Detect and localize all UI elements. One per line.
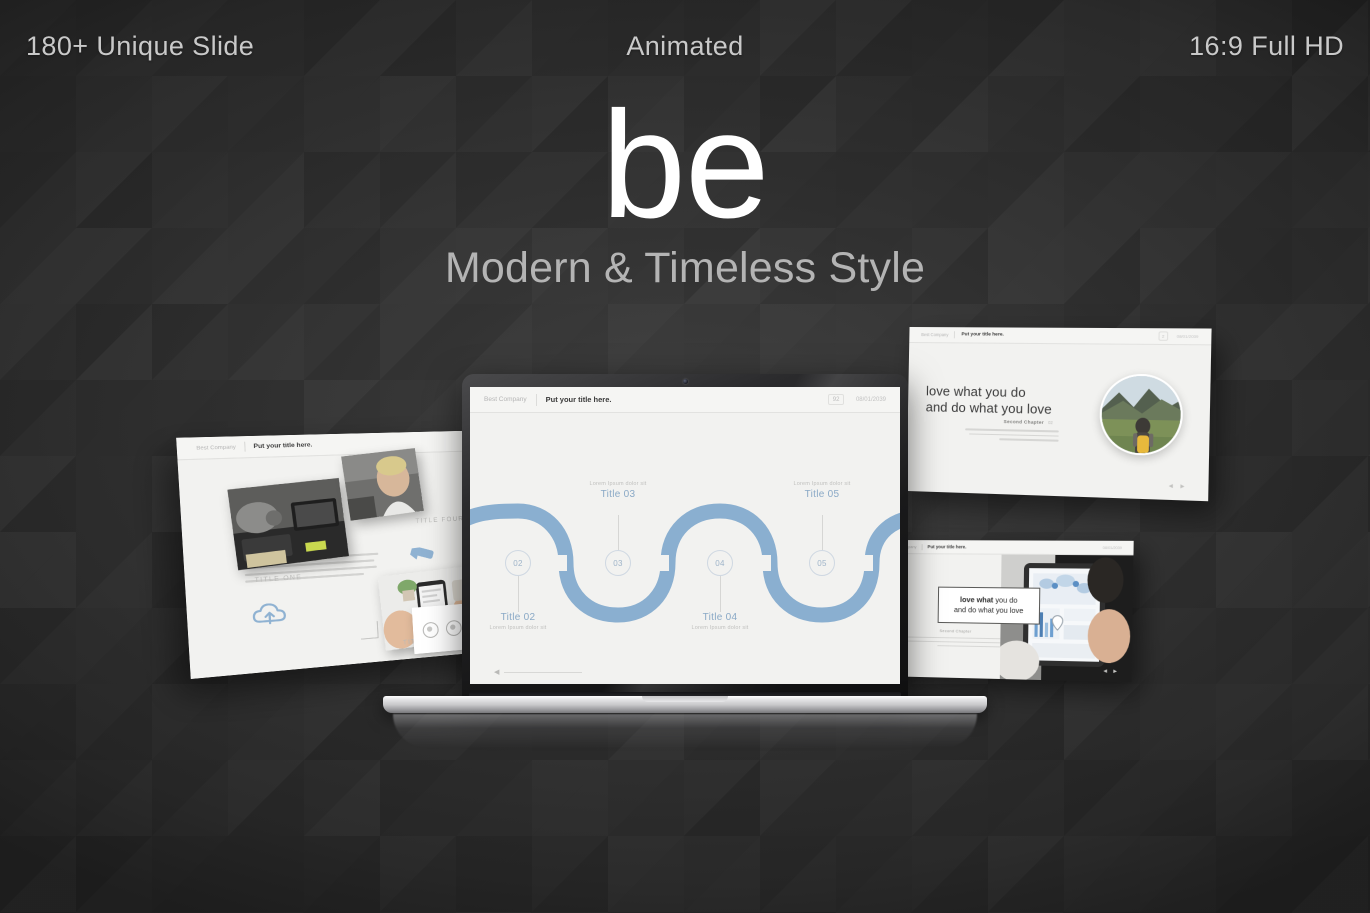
chapter-tag-number: 02 bbox=[1048, 420, 1053, 425]
desk-workspace-photo bbox=[227, 478, 349, 570]
slide-date: 08/01/2039 bbox=[856, 397, 886, 403]
slide-company-label: Best Company bbox=[484, 396, 527, 403]
laptop-slide-nav[interactable]: ◀ bbox=[494, 669, 582, 676]
timeline-desc-02: Lorem Ipsum dolor sit bbox=[489, 625, 546, 631]
timeline-stem-03 bbox=[618, 515, 619, 550]
laptop-base bbox=[383, 696, 987, 713]
right-arrow-icon[interactable]: ▶ bbox=[1180, 484, 1184, 490]
chapter-tag: Second Chapter 02 bbox=[1004, 419, 1053, 425]
timeline-label-05: Lorem Ipsum dolor sit Title 05 bbox=[793, 481, 850, 500]
laptop-mockup: Best Company Put your title here. 92 08/… bbox=[383, 374, 987, 772]
slide-nav[interactable]: ◀ ▶ bbox=[1169, 483, 1185, 490]
slide-number-badge: 2 bbox=[1158, 331, 1168, 340]
nav-progress-bar[interactable] bbox=[504, 672, 582, 674]
header-divider bbox=[536, 394, 537, 406]
timeline-title-03: Title 03 bbox=[589, 489, 646, 500]
hiker-mountain-photo bbox=[1099, 373, 1184, 456]
timeline-path bbox=[470, 413, 900, 684]
slide-title-label: Put your title here. bbox=[961, 332, 1004, 337]
timeline-title-02: Title 02 bbox=[489, 612, 546, 623]
timeline-diagram: 02 03 04 05 Title 02 Lorem Ipsum dolor s… bbox=[470, 413, 900, 684]
feature-slide-count: 180+ Unique Slide bbox=[26, 31, 326, 62]
timeline-label-03: Lorem Ipsum dolor sit Title 03 bbox=[589, 481, 646, 500]
laptop-reflection bbox=[393, 714, 977, 748]
slide-header: Best Company Put your title here. 2 08/0… bbox=[909, 327, 1211, 345]
feature-bar: 180+ Unique Slide Animated 16:9 Full HD bbox=[0, 0, 1370, 92]
slide-header-right: 08/01/2039 bbox=[1103, 545, 1122, 549]
timeline-title-04: Title 04 bbox=[691, 612, 748, 623]
timeline-desc-05: Lorem Ipsum dolor sit bbox=[793, 481, 850, 487]
slide-company-label: Best Company bbox=[196, 444, 236, 452]
timeline-label-02: Title 02 Lorem Ipsum dolor sit bbox=[489, 612, 546, 631]
timeline-desc-03: Lorem Ipsum dolor sit bbox=[589, 481, 646, 487]
feature-resolution: 16:9 Full HD bbox=[1044, 31, 1344, 62]
slide-date: 08/01/2039 bbox=[1103, 545, 1122, 549]
timeline-node-05: 05 bbox=[809, 550, 835, 576]
webcam-icon bbox=[683, 379, 688, 384]
slide-number-badge: 92 bbox=[828, 394, 844, 405]
timeline-stem-04 bbox=[720, 576, 721, 612]
timeline-stem-05 bbox=[822, 515, 823, 550]
right-arrow-icon[interactable]: ▶ bbox=[1113, 668, 1117, 674]
left-arrow-icon[interactable]: ◀ bbox=[1103, 668, 1107, 674]
feature-animated: Animated bbox=[326, 31, 1044, 62]
slide-company-label: Best Company bbox=[921, 332, 948, 337]
chapter-tag-label: Second Chapter bbox=[1004, 419, 1044, 425]
slide-nav[interactable]: ◀ ▶ bbox=[1103, 668, 1117, 675]
timeline-stem-02 bbox=[518, 576, 519, 612]
timeline-node-04: 04 bbox=[707, 550, 733, 576]
hero-subtitle: Modern & Timeless Style bbox=[0, 244, 1370, 293]
slide-header-right: 2 08/01/2039 bbox=[1158, 331, 1198, 341]
cloud-upload-icon bbox=[251, 600, 288, 635]
header-divider bbox=[954, 331, 955, 338]
corner-bracket-bottom-right bbox=[360, 621, 379, 640]
slide-date: 08/01/2039 bbox=[1177, 334, 1199, 339]
hero-block: be Modern & Timeless Style bbox=[0, 96, 1370, 293]
laptop-lid: Best Company Put your title here. 92 08/… bbox=[462, 374, 908, 700]
timeline-desc-04: Lorem Ipsum dolor sit bbox=[691, 625, 748, 631]
quote-rest: you do bbox=[993, 595, 1017, 604]
timeline-node-03: 03 bbox=[605, 550, 631, 576]
slide-title-label: Put your title here. bbox=[253, 442, 312, 450]
header-divider bbox=[244, 442, 246, 452]
slide-title-label: Put your title here. bbox=[546, 395, 612, 404]
slide-header-right: 92 08/01/2039 bbox=[828, 394, 886, 405]
left-arrow-icon[interactable]: ◀ bbox=[1169, 483, 1173, 489]
timeline-node-02: 02 bbox=[505, 550, 531, 576]
laptop-screen-slide[interactable]: Best Company Put your title here. 92 08/… bbox=[470, 387, 900, 684]
hero-title: be bbox=[0, 96, 1370, 236]
left-arrow-icon[interactable]: ◀ bbox=[494, 669, 499, 676]
laptop-notch bbox=[642, 696, 728, 702]
timeline-label-04: Title 04 Lorem Ipsum dolor sit bbox=[691, 612, 748, 631]
timeline-title-05: Title 05 bbox=[793, 489, 850, 500]
slide-header: Best Company Put your title here. 92 08/… bbox=[470, 387, 900, 413]
